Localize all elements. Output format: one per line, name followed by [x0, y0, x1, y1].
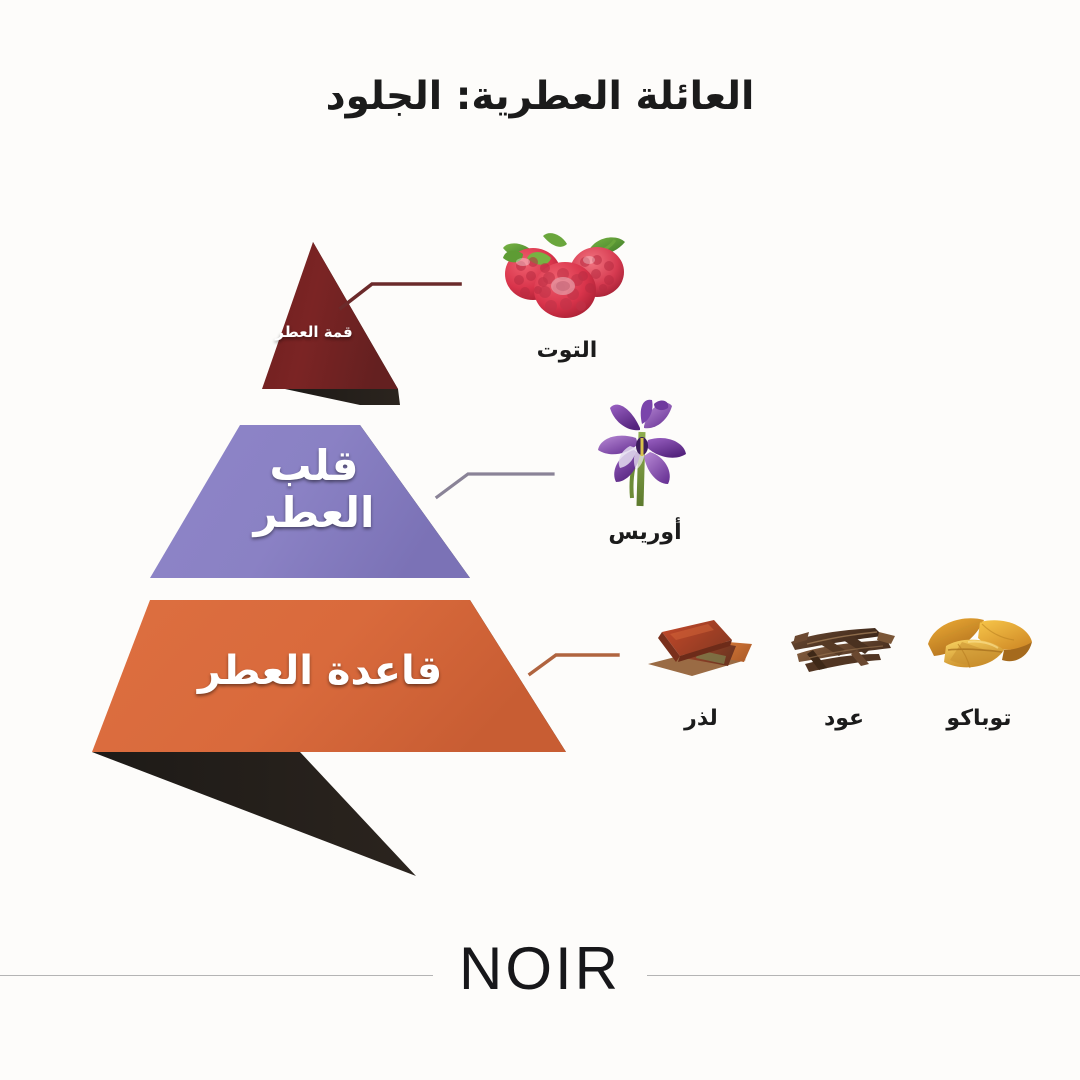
connector-line-heart: [437, 474, 553, 497]
note-item-tobacco: توباكو: [915, 606, 1043, 731]
note-item-leather: لذر: [637, 606, 765, 731]
pyramid-heart-tier[interactable]: [150, 425, 470, 578]
pyramid-base-tier[interactable]: [92, 600, 566, 752]
fragrance-pyramid-graphic: [0, 0, 1080, 1080]
note-caption-leather: لذر: [637, 706, 765, 731]
raspberries-icon: [493, 228, 641, 324]
brand-footer: NOIR: [0, 930, 1080, 1020]
oud-wood-chips-icon: [783, 606, 905, 690]
pyramid-cast-shadow: [92, 752, 416, 876]
note-caption-orris: أوريس: [570, 520, 720, 545]
note-item-oud: عود: [780, 606, 908, 731]
note-caption-tobacco: توباكو: [915, 706, 1043, 731]
footer-rule-left: [0, 975, 433, 976]
iris-flower-icon: [582, 398, 708, 510]
note-caption-berries: التوت: [487, 338, 647, 363]
note-item-orris: أوريس: [570, 398, 720, 545]
connector-line-top: [341, 284, 460, 308]
leather-swatches-icon: [640, 606, 762, 690]
connector-line-base: [530, 655, 618, 674]
brand-name: NOIR: [433, 939, 647, 999]
note-item-berries: التوت: [487, 228, 647, 363]
infographic-canvas: العائلة العطرية: الجلود: [0, 0, 1080, 1080]
pyramid-top-tier[interactable]: [262, 242, 398, 389]
tobacco-leaves-icon: [918, 606, 1040, 690]
note-caption-oud: عود: [780, 706, 908, 731]
footer-rule-right: [647, 975, 1080, 976]
